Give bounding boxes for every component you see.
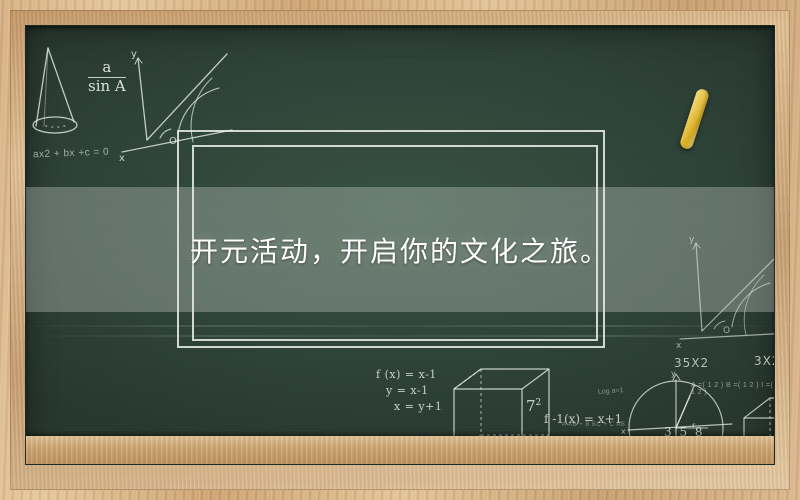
base-number: 7 [526,397,536,415]
headline-band: 开元活动，开启你的文化之旅。 [26,187,774,312]
axis-label-x: x [621,427,626,436]
axis-label-y: y [131,49,137,60]
chalkboard-surface: y x O a sin A ax2 + bx +c = 0 [26,26,774,464]
function-line-1: f (x) = x-1 [376,367,442,383]
exponent: 2 [536,398,542,408]
chalk-tray-ledge [26,436,774,464]
fraction-numerator: a [88,60,126,76]
chalkboard-banner: y x O a sin A ax2 + bx +c = 0 [0,0,800,500]
inverse-function-equation: f -1(x) = x+1 [544,412,622,426]
function-line-2: y = x-1 [376,383,442,399]
axis-label-x: x [119,153,125,164]
function-line-3: x = y+1 [376,399,442,415]
banner-headline: 开元活动，开启你的文化之旅。 [190,230,610,270]
seven-squared: 72 [526,397,541,415]
fraction-a-over-sina-topleft: a sin A [88,60,126,95]
axis-label-x: x [676,341,682,351]
axis-label-y: y [671,369,676,378]
function-equations-block: f (x) = x-1 y = x-1 x = y+1 [376,367,442,415]
fraction-denominator: sin A [88,79,126,95]
angle-label-o: O [169,136,177,147]
